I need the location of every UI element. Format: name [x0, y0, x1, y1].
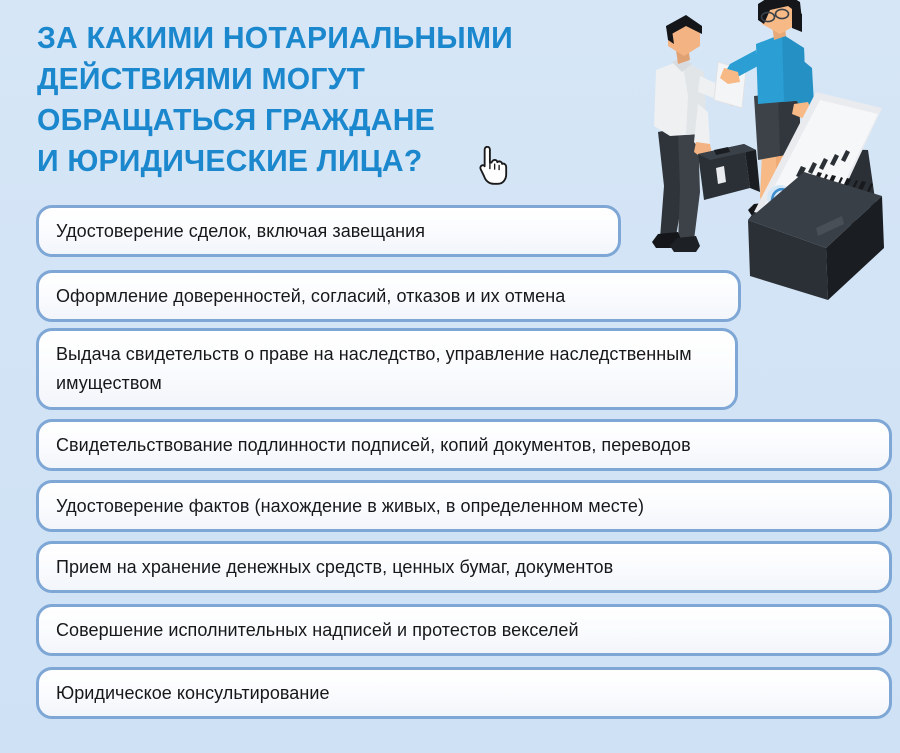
list-item-label: Выдача свидетельств о праве на наследств…	[56, 340, 719, 398]
list-item[interactable]: Удостоверение фактов (нахождение в живых…	[36, 480, 892, 532]
list-item[interactable]: Выдача свидетельств о праве на наследств…	[36, 328, 738, 410]
list-item-label: Удостоверение сделок, включая завещания	[56, 217, 425, 246]
list-item-label: Прием на хранение денежных средств, ценн…	[56, 553, 613, 582]
list-item[interactable]: Свидетельствование подлинности подписей,…	[36, 419, 892, 471]
notarial-actions-list: Удостоверение сделок, включая завещания …	[0, 0, 900, 753]
list-item[interactable]: Совершение исполнительных надписей и про…	[36, 604, 892, 656]
list-item[interactable]: Юридическое консультирование	[36, 667, 892, 719]
list-item-label: Удостоверение фактов (нахождение в живых…	[56, 492, 644, 521]
list-item-label: Свидетельствование подлинности подписей,…	[56, 431, 691, 460]
list-item-label: Оформление доверенностей, согласий, отка…	[56, 282, 565, 311]
infographic-poster: ЗА КАКИМИ НОТАРИАЛЬНЫМИ ДЕЙСТВИЯМИ МОГУТ…	[0, 0, 900, 753]
list-item[interactable]: Удостоверение сделок, включая завещания	[36, 205, 621, 257]
list-item-label: Юридическое консультирование	[56, 679, 330, 708]
list-item[interactable]: Оформление доверенностей, согласий, отка…	[36, 270, 741, 322]
list-item[interactable]: Прием на хранение денежных средств, ценн…	[36, 541, 892, 593]
list-item-label: Совершение исполнительных надписей и про…	[56, 616, 579, 645]
